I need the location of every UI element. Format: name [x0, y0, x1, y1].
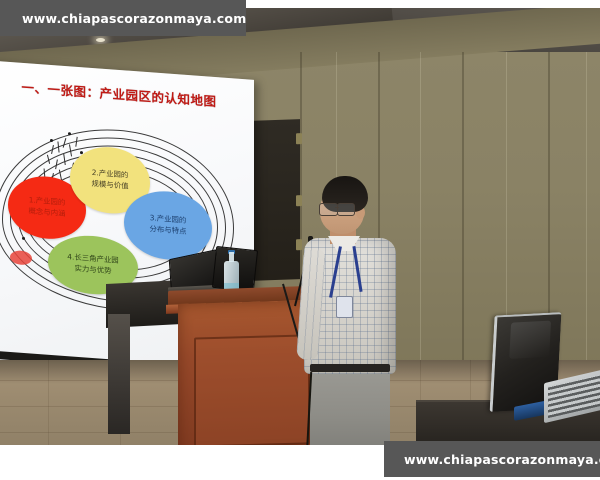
bubble-label-line2: 规模与价值: [92, 179, 129, 192]
water-bottle: [224, 252, 239, 292]
watermark-bottom: www.chiapascorazonmaya.com: [384, 441, 600, 477]
watermark-top-text: www.chiapascorazonmaya.com: [22, 11, 246, 26]
conference-photo: 一、一张图：产业园区的认知地图: [0, 8, 600, 445]
laptop-keys: [548, 374, 600, 418]
podium-side-column: [108, 314, 130, 434]
bottle-body: [224, 261, 239, 292]
bubble-label-line2: 实力与优势: [75, 264, 112, 277]
wall-door-panel: [252, 119, 300, 281]
slide-title-main: 产业园区的认知地图: [100, 85, 217, 109]
laptop-screen-reflection: [509, 321, 551, 359]
name-badge: [336, 296, 353, 318]
slide-title-prefix: 一、一张图：: [21, 80, 99, 101]
bubble-label-line2: 分布与特点: [150, 224, 187, 237]
silver-laptop: [486, 314, 600, 414]
watermark-bottom-text: www.chiapascorazonmaya.com: [404, 452, 600, 467]
glasses-icon: [337, 203, 355, 216]
speaker: [304, 176, 396, 445]
ceiling-light: [96, 38, 105, 42]
speaker-belt: [310, 364, 390, 372]
podium-front-panel: [194, 334, 310, 445]
glasses-icon: [319, 203, 338, 216]
speaker-trousers: [310, 366, 390, 445]
screenshot-root: 一、一张图：产业园区的认知地图: [0, 0, 600, 480]
watermark-top: www.chiapascorazonmaya.com: [0, 0, 246, 36]
glasses-bridge: [335, 207, 339, 208]
bubble-label-line2: 概念与内涵: [29, 206, 66, 219]
slide-title: 一、一张图：产业园区的认知地图: [0, 74, 250, 112]
